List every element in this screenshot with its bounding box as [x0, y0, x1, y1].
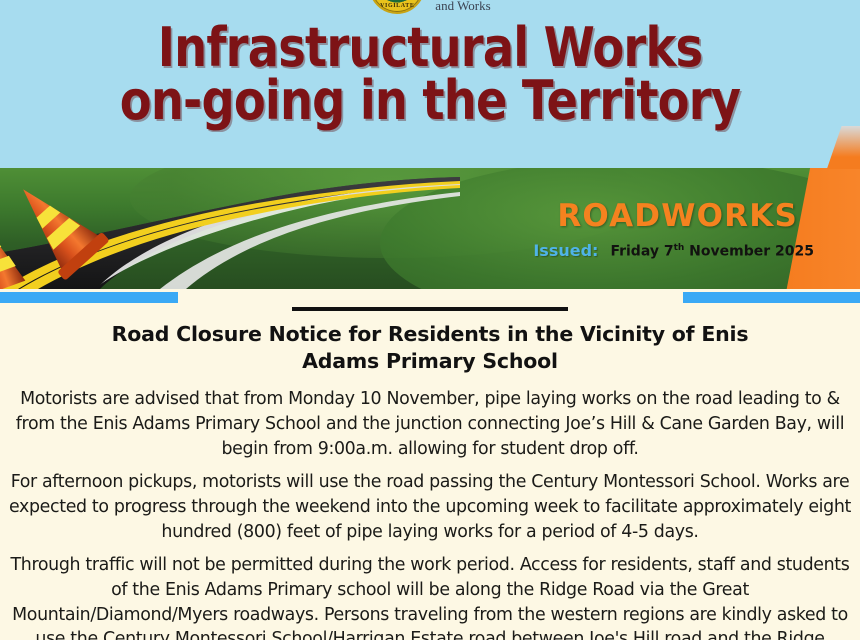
- traffic-cone-icon: [0, 168, 118, 289]
- page-title-line2: on-going in the Territory: [60, 75, 800, 128]
- issued-date: Friday 7th November 2025: [610, 243, 814, 260]
- notice-paragraph-2: For afternoon pickups, motorists will us…: [4, 470, 856, 544]
- notice-heading: Road Closure Notice for Residents in the…: [80, 321, 780, 375]
- issued-date-suffix: November 2025: [684, 244, 814, 260]
- blue-divider-right: [683, 292, 860, 303]
- heading-rule: [292, 307, 568, 311]
- ministry-name: and Works: [435, 0, 490, 14]
- government-crest-icon: VIGILATE: [369, 0, 425, 14]
- roadworks-poster: VIGILATE and Works Infrastructural Works…: [0, 0, 860, 640]
- page-title: Infrastructural Works on-going in the Te…: [60, 22, 800, 128]
- notice-paragraph-3: Through traffic will not be permitted du…: [4, 553, 856, 640]
- issued-date-prefix: Friday 7: [610, 244, 673, 260]
- header-sky-band: VIGILATE and Works Infrastructural Works…: [0, 0, 860, 169]
- roadworks-label: ROADWORKS: [557, 198, 798, 234]
- issued-date-ordinal: th: [674, 243, 685, 253]
- notice-content: Road Closure Notice for Residents in the…: [0, 303, 860, 640]
- issued-row: Issued: Friday 7th November 2025: [533, 241, 814, 260]
- blue-divider-left: [0, 292, 178, 303]
- issued-label: Issued:: [533, 241, 598, 260]
- notice-paragraph-1: Motorists are advised that from Monday 1…: [4, 387, 856, 461]
- crest-motto: VIGILATE: [371, 3, 423, 9]
- ministry-branding: VIGILATE and Works: [0, 0, 860, 14]
